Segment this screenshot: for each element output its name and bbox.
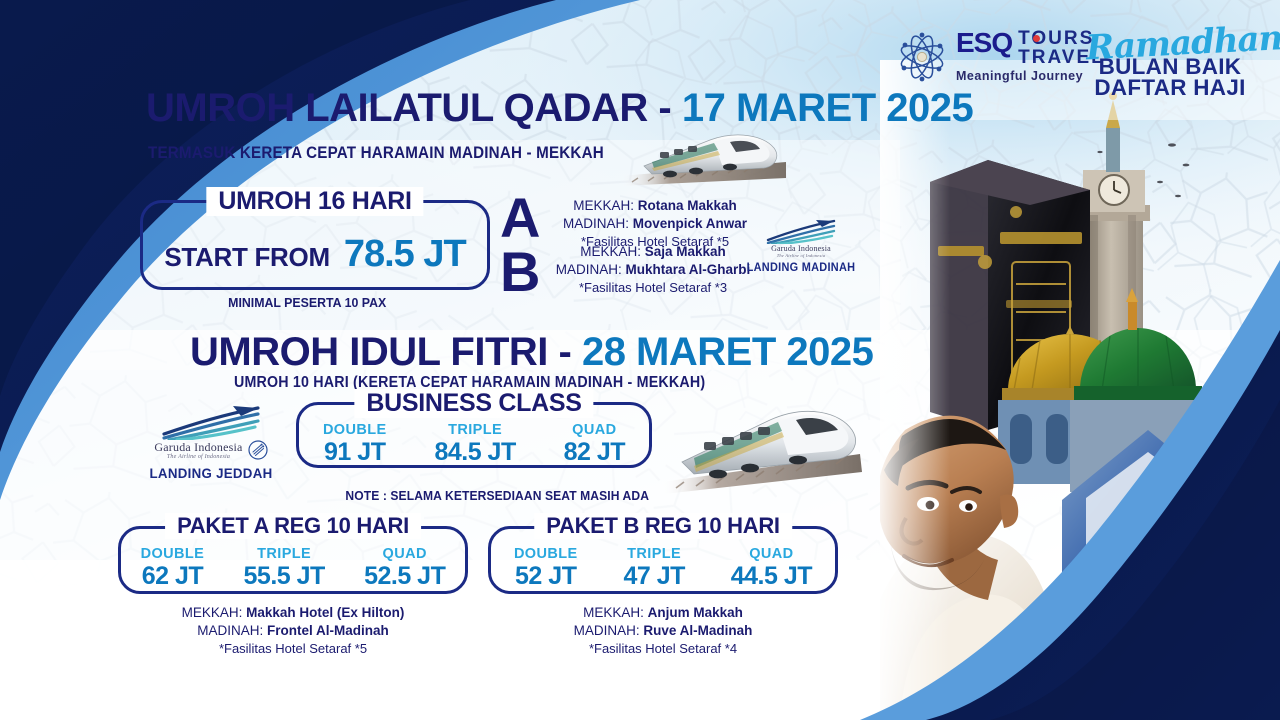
start-from-price: 78.5 JT	[344, 233, 466, 276]
esq-tagline: Meaningful Journey	[956, 69, 1105, 83]
tier: TRIPLE 55.5 JT	[244, 545, 325, 591]
paket-b-madinah-hotel: Ruve Al-Madinah	[643, 623, 752, 638]
esq-logo: ESQ TOURS TRAVEL Meaningful Journey	[896, 30, 1105, 83]
paket-b-details: MEKKAH: Anjum Makkah MADINAH: Ruve Al-Ma…	[488, 604, 838, 657]
option-b-mekkah-hotel: Saja Makkah	[645, 244, 726, 259]
promo1-title-date: 17 MARET 2025	[682, 86, 973, 130]
tier-label: DOUBLE	[514, 545, 578, 563]
promo2-title: UMROH IDUL FITRI - 28 MARET 2025	[190, 330, 873, 375]
option-b-mekkah-label: MEKKAH:	[580, 244, 641, 259]
tier: TRIPLE 84.5 JT	[434, 421, 515, 467]
paket-b-title: PAKET B REG 10 HARI	[534, 513, 792, 539]
tier-price: 44.5 JT	[731, 563, 812, 591]
option-b-madinah-hotel: Mukhtara Al-Gharbi	[626, 262, 751, 277]
tier-price: 91 JT	[323, 439, 387, 467]
paket-b-facility: *Fasilitas Hotel Setaraf *4	[488, 640, 838, 657]
tier-price: 55.5 JT	[244, 563, 325, 591]
tier-price: 52 JT	[514, 563, 578, 591]
paket-b-madinah-label: MADINAH:	[574, 623, 640, 638]
tier: QUAD 52.5 JT	[364, 545, 445, 591]
promo1-title-main: UMROH LAILATUL QADAR -	[146, 86, 682, 130]
tier: DOUBLE 52 JT	[514, 545, 578, 591]
ramadhan-line2: BULAN BAIK	[1084, 56, 1255, 77]
paket-a-mekkah-label: MEKKAH:	[182, 605, 243, 620]
tier-price: 52.5 JT	[364, 563, 445, 591]
start-from-row: START FROM 78.5 JT	[143, 233, 487, 276]
garuda-airline-tagline: The Airline of Indonesia	[154, 454, 242, 460]
garuda-airline-name: Garuda Indonesia	[154, 441, 242, 453]
tier-label: DOUBLE	[323, 421, 387, 439]
minimal-peserta-note: MINIMAL PESERTA 10 PAX	[228, 295, 386, 310]
ramadhan-line3: DAFTAR HAJI	[1084, 77, 1255, 98]
option-b-details: MEKKAH: Saja Makkah MADINAH: Mukhtara Al…	[528, 243, 778, 296]
option-a-madinah-label: MADINAH:	[563, 216, 629, 231]
tier-label: DOUBLE	[141, 545, 205, 563]
tier-label: QUAD	[731, 545, 812, 563]
umroh-16-hari-box: UMROH 16 HARI START FROM 78.5 JT	[140, 200, 490, 290]
tier-price: 47 JT	[623, 563, 684, 591]
garuda-bird-icon	[159, 404, 263, 440]
esq-wordmark: ESQ	[956, 30, 1012, 57]
paket-a-details: MEKKAH: Makkah Hotel (Ex Hilton) MADINAH…	[118, 604, 468, 657]
paket-a-title: PAKET A REG 10 HARI	[165, 513, 421, 539]
garuda-airline-tagline: The Airline of Indonesia	[742, 254, 860, 259]
tier-price: 62 JT	[141, 563, 205, 591]
option-a-details: MEKKAH: Rotana Makkah MADINAH: Movenpick…	[540, 197, 770, 250]
high-speed-train-image	[660, 398, 865, 498]
tier-label: TRIPLE	[244, 545, 325, 563]
garuda-landing-label: LANDING JEDDAH	[140, 465, 283, 481]
paket-b-mekkah-label: MEKKAH:	[583, 605, 644, 620]
option-a-mekkah-label: MEKKAH:	[573, 198, 634, 213]
garuda-landing-madinah-logo: Garuda Indonesia The Airline of Indonesi…	[742, 218, 860, 274]
business-class-tiers: DOUBLE 91 JT TRIPLE 84.5 JT QUAD 82 JT	[299, 421, 649, 467]
option-a-madinah-hotel: Movenpick Anwar	[633, 216, 747, 231]
ramadhan-badge: Ramadhan BULAN BAIK DAFTAR HAJI	[1086, 28, 1254, 99]
option-b-madinah-label: MADINAH:	[556, 262, 622, 277]
promo1-subtitle: TERMASUK KERETA CEPAT HARAMAIN MADINAH -…	[148, 144, 604, 163]
tier-price: 84.5 JT	[434, 439, 515, 467]
tier-price: 82 JT	[564, 439, 625, 467]
promo2-title-date: 28 MARET 2025	[582, 330, 873, 374]
high-speed-train-image	[618, 126, 788, 188]
paket-a-box: PAKET A REG 10 HARI DOUBLE 62 JT TRIPLE …	[118, 526, 468, 594]
start-from-label: START FROM	[164, 242, 330, 273]
promo2-title-main: UMROH IDUL FITRI -	[190, 330, 582, 374]
business-class-title: BUSINESS CLASS	[354, 389, 593, 418]
business-class-box: BUSINESS CLASS DOUBLE 91 JT TRIPLE 84.5 …	[296, 402, 652, 468]
option-a-mark: A	[500, 192, 539, 244]
tier-label: QUAD	[564, 421, 625, 439]
option-a-mekkah-hotel: Rotana Makkah	[638, 198, 737, 213]
paket-a-tiers: DOUBLE 62 JT TRIPLE 55.5 JT QUAD 52.5 JT	[121, 545, 465, 591]
paket-b-box: PAKET B REG 10 HARI DOUBLE 52 JT TRIPLE …	[488, 526, 838, 594]
skyteam-icon	[248, 440, 268, 460]
tier: QUAD 82 JT	[564, 421, 625, 467]
paket-a-madinah-label: MADINAH:	[197, 623, 263, 638]
garuda-landing-label: LANDING MADINAH	[745, 262, 857, 274]
garuda-airline-name: Garuda Indonesia	[742, 245, 860, 253]
paket-b-tiers: DOUBLE 52 JT TRIPLE 47 JT QUAD 44.5 JT	[491, 545, 835, 591]
option-b-facility: *Fasilitas Hotel Setaraf *3	[528, 279, 778, 296]
garuda-landing-jeddah-logo: Garuda Indonesia The Airline of Indonesi…	[136, 404, 286, 481]
tier: TRIPLE 47 JT	[623, 545, 684, 591]
promotional-banner: ESQ TOURS TRAVEL Meaningful Journey Rama…	[0, 0, 1280, 720]
umroh-16-hari-title: UMROH 16 HARI	[206, 187, 423, 216]
atom-icon	[896, 32, 948, 82]
paket-b-mekkah-hotel: Anjum Makkah	[648, 605, 743, 620]
tier: QUAD 44.5 JT	[731, 545, 812, 591]
garuda-bird-icon	[764, 218, 838, 244]
promo1-title: UMROH LAILATUL QADAR - 17 MARET 2025	[146, 86, 973, 131]
tier-label: TRIPLE	[434, 421, 515, 439]
seat-availability-note: NOTE : SELAMA KETERSEDIAAN SEAT MASIH AD…	[345, 488, 649, 503]
paket-a-facility: *Fasilitas Hotel Setaraf *5	[118, 640, 468, 657]
tier-label: TRIPLE	[623, 545, 684, 563]
tier: DOUBLE 62 JT	[141, 545, 205, 591]
paket-a-madinah-hotel: Frontel Al-Madinah	[267, 623, 389, 638]
tier-label: QUAD	[364, 545, 445, 563]
paket-a-mekkah-hotel: Makkah Hotel (Ex Hilton)	[246, 605, 404, 620]
tier: DOUBLE 91 JT	[323, 421, 387, 467]
